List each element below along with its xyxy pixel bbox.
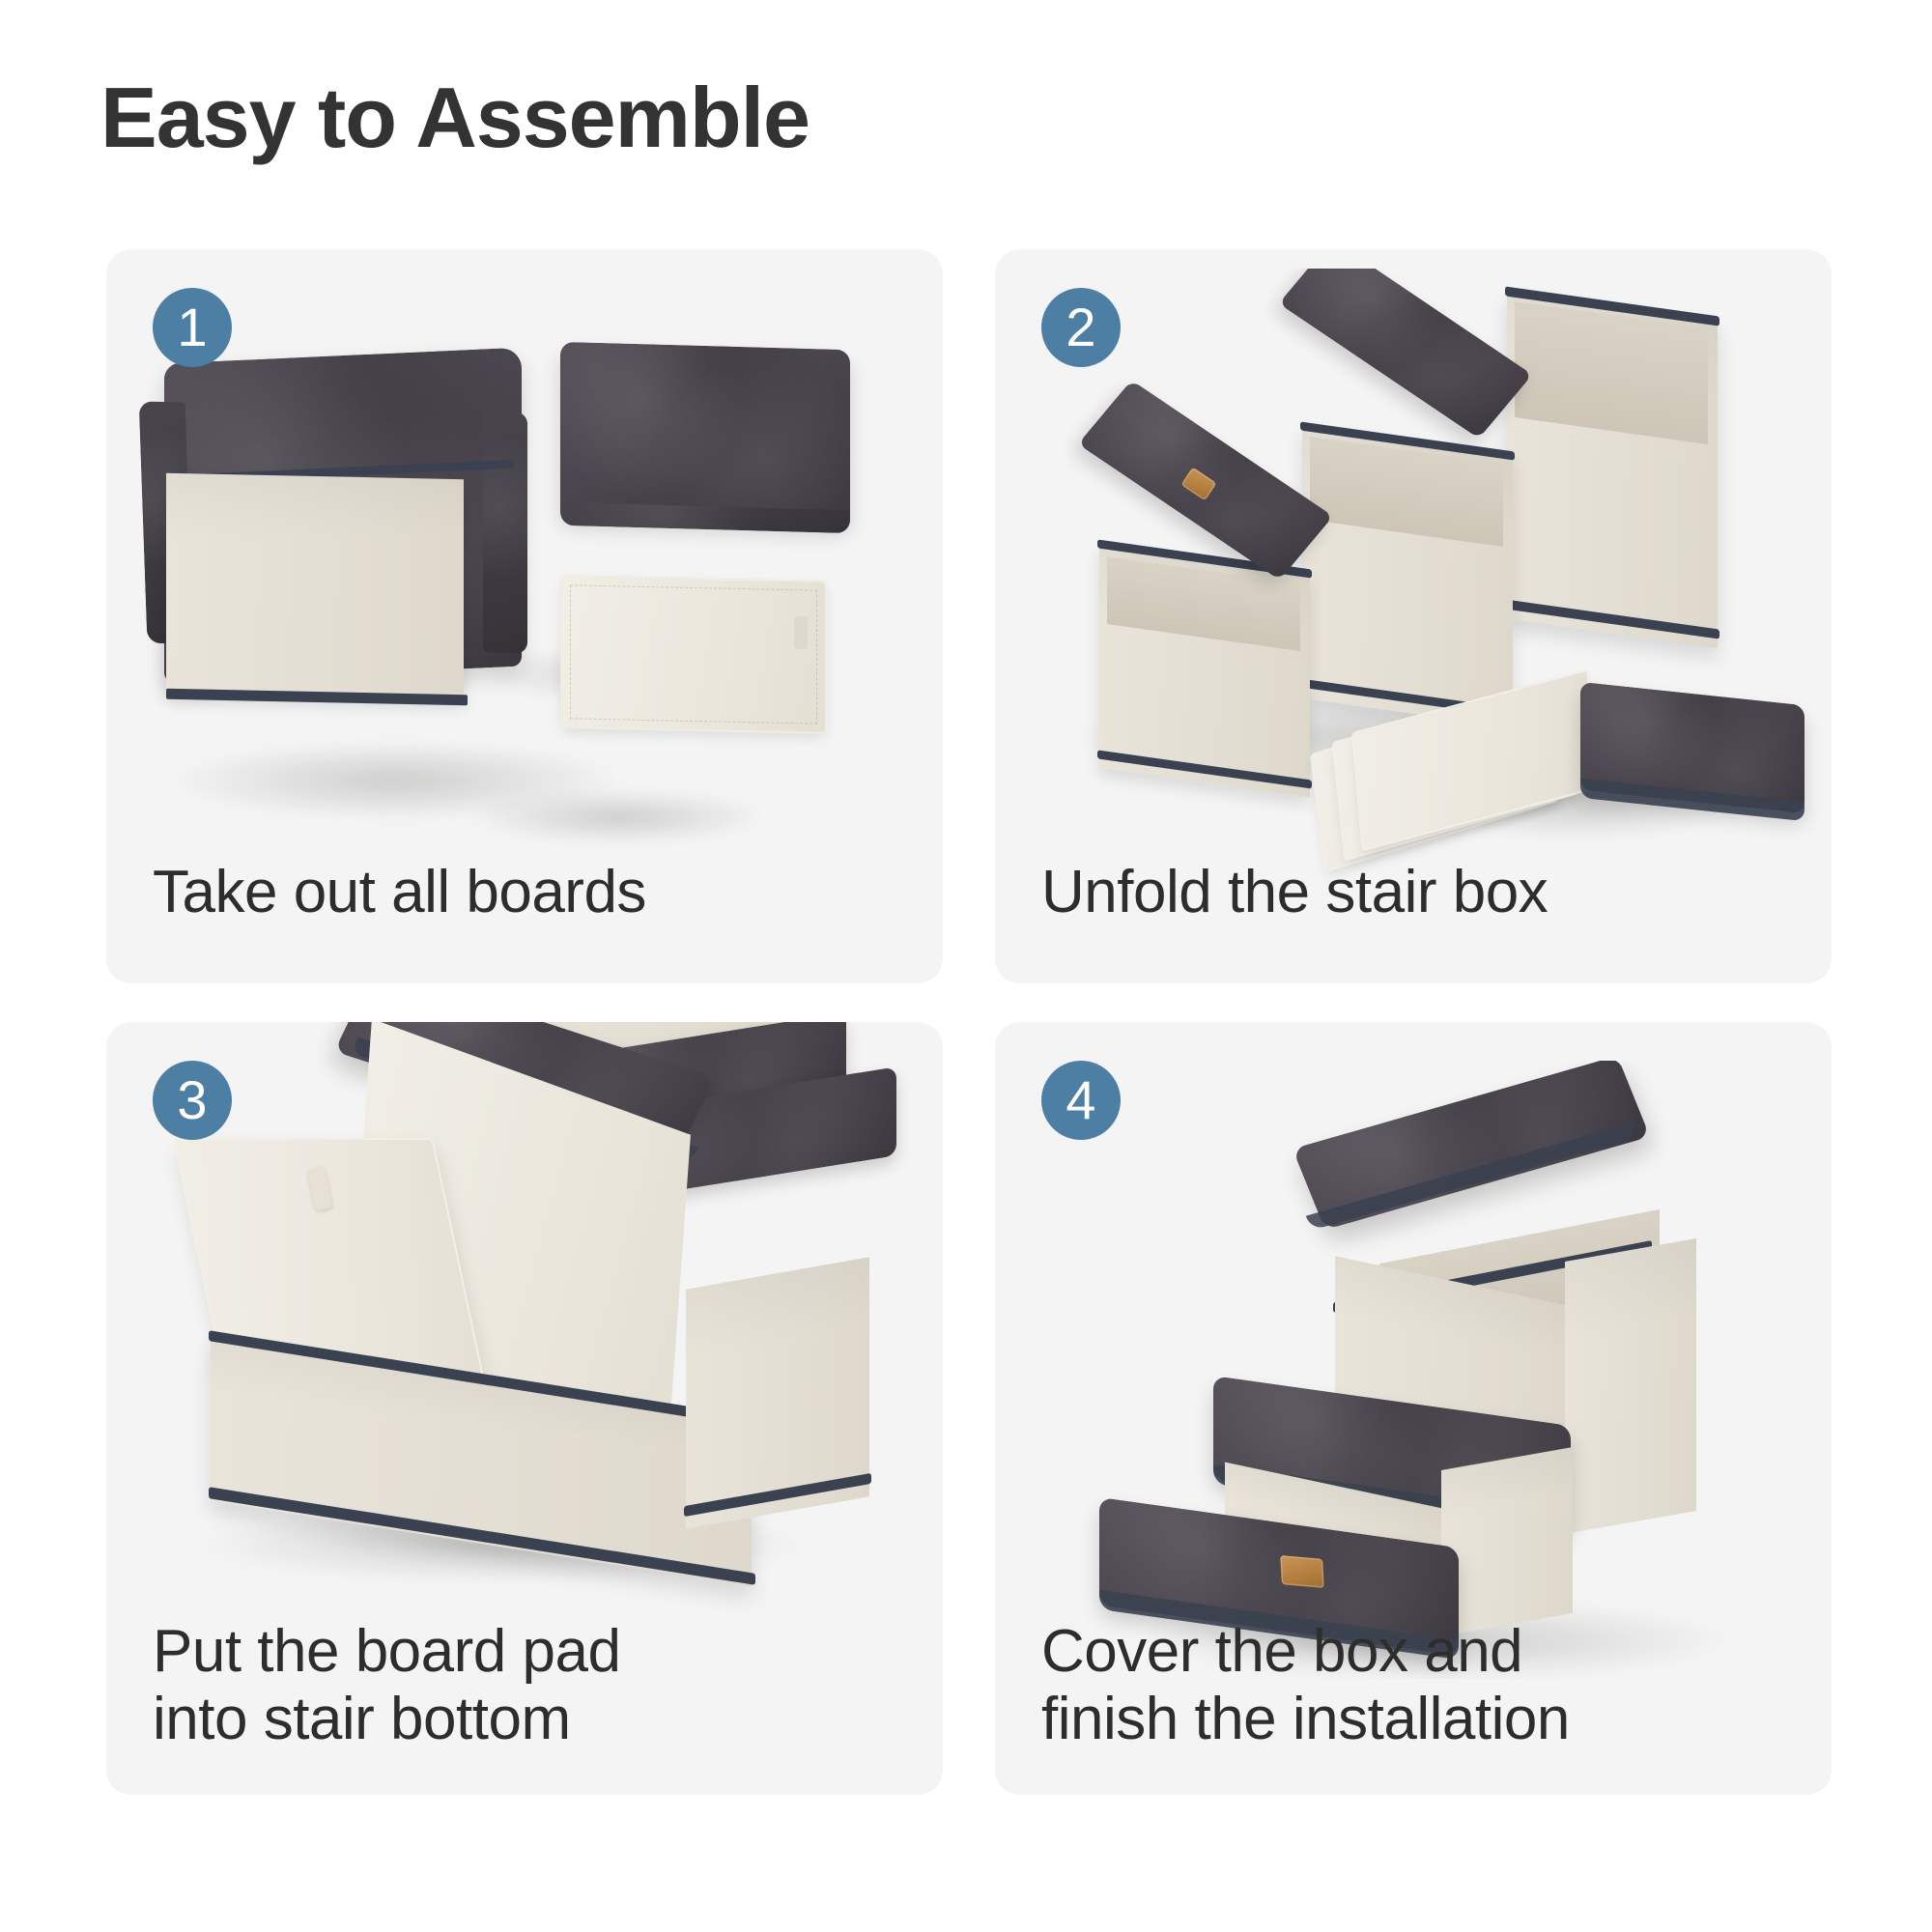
step-card-4: 4 [995,1022,1832,1795]
assembly-instructions-page: Easy to Assemble 1 [0,0,1932,1932]
step-photo-1 [106,327,943,887]
step-caption-2: Unfold the stair box [1041,859,1548,927]
step-number-badge-1: 1 [153,288,232,367]
step-caption-4: Cover the box and finish the installatio… [1041,1618,1570,1754]
steps-grid: 1 [106,249,1832,1845]
canvas-board-large [166,473,464,699]
step-caption-1: Take out all boards [153,859,646,927]
step-photo-3 [106,1022,943,1621]
step-number-badge-2: 2 [1041,288,1121,367]
step-card-1: 1 [106,249,943,983]
step-photo-4 [995,1061,1832,1679]
step-caption-3: Put the board pad into stair bottom [153,1618,620,1754]
brand-logo-tag [1280,1555,1324,1588]
step-number-badge-3: 3 [153,1061,232,1140]
step-card-2: 2 [995,249,1832,983]
step-card-3: 3 [106,1022,943,1795]
open-lid-upper [1279,269,1533,439]
step-photo-2 [995,269,1832,887]
suede-lid [560,342,850,524]
step-number-badge-4: 4 [1041,1061,1121,1140]
page-title: Easy to Assemble [100,75,810,160]
